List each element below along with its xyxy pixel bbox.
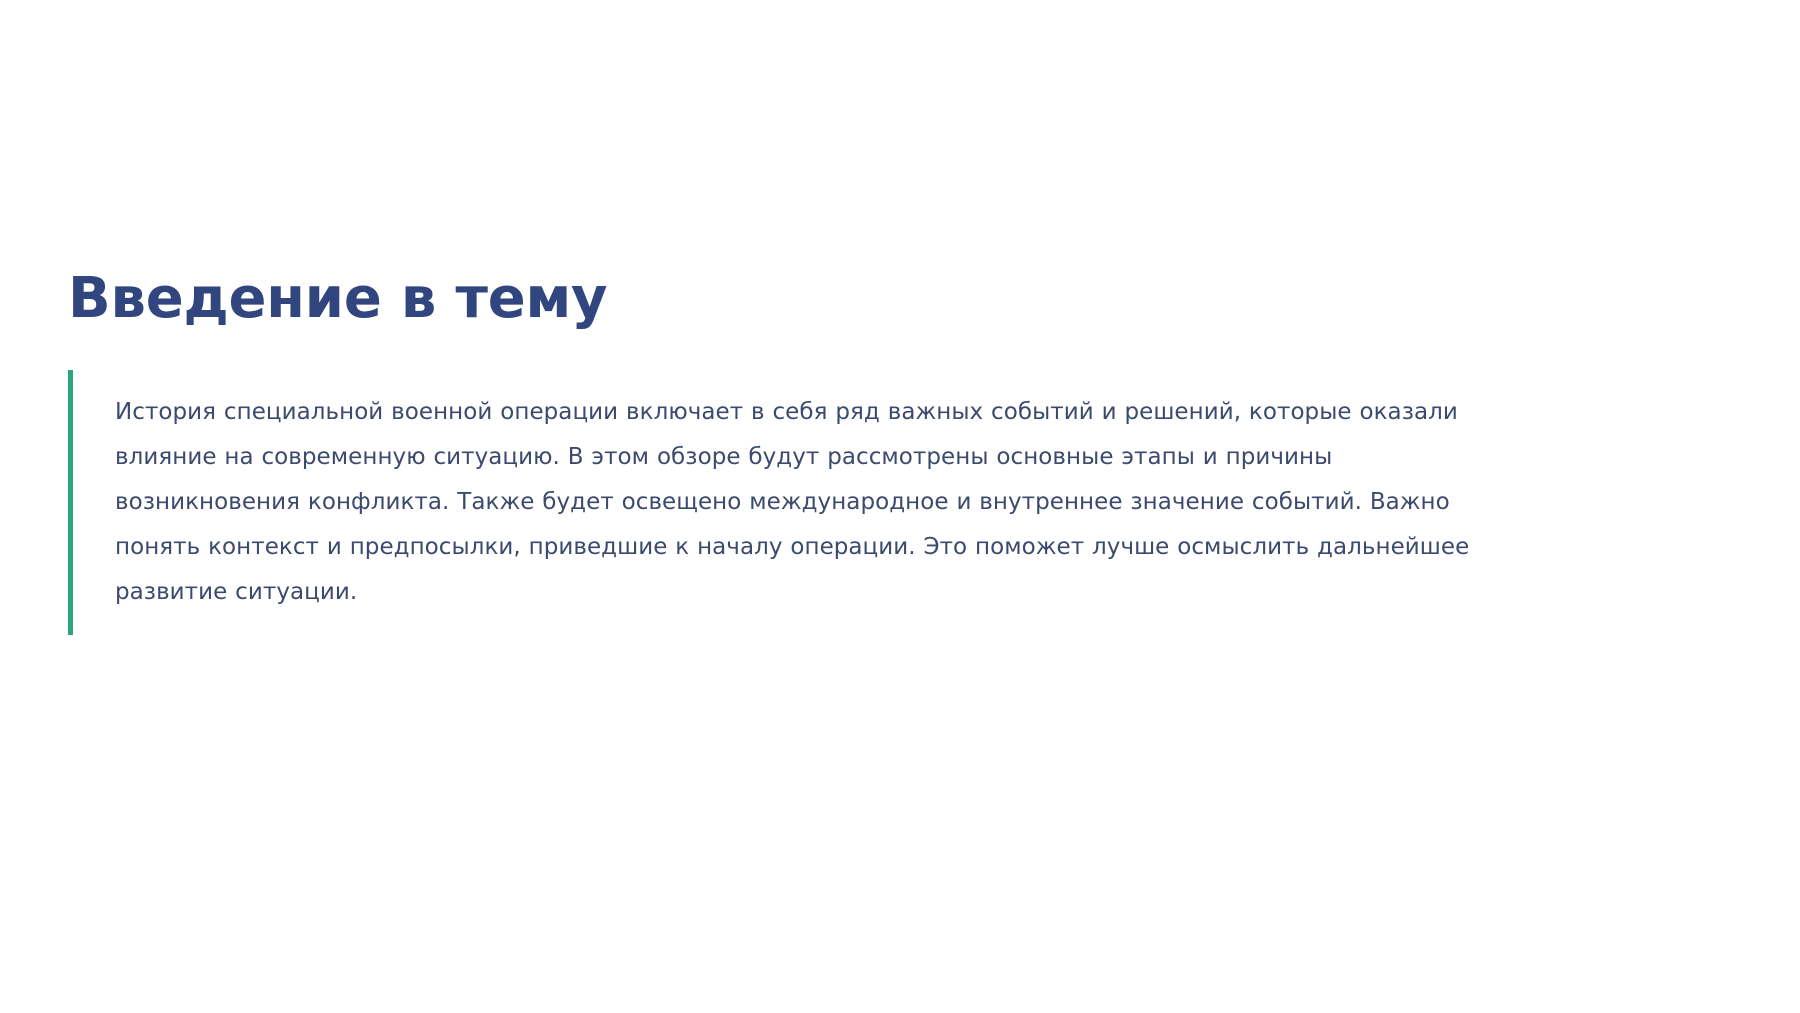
- slide-content: Введение в тему История специальной воен…: [68, 268, 1568, 638]
- body-block: История специальной военной операции вкл…: [68, 367, 1568, 638]
- body-paragraph: История специальной военной операции вкл…: [73, 390, 1515, 615]
- page-title: Введение в тему: [68, 268, 1568, 331]
- slide-root: Введение в тему История специальной воен…: [0, 0, 1800, 1013]
